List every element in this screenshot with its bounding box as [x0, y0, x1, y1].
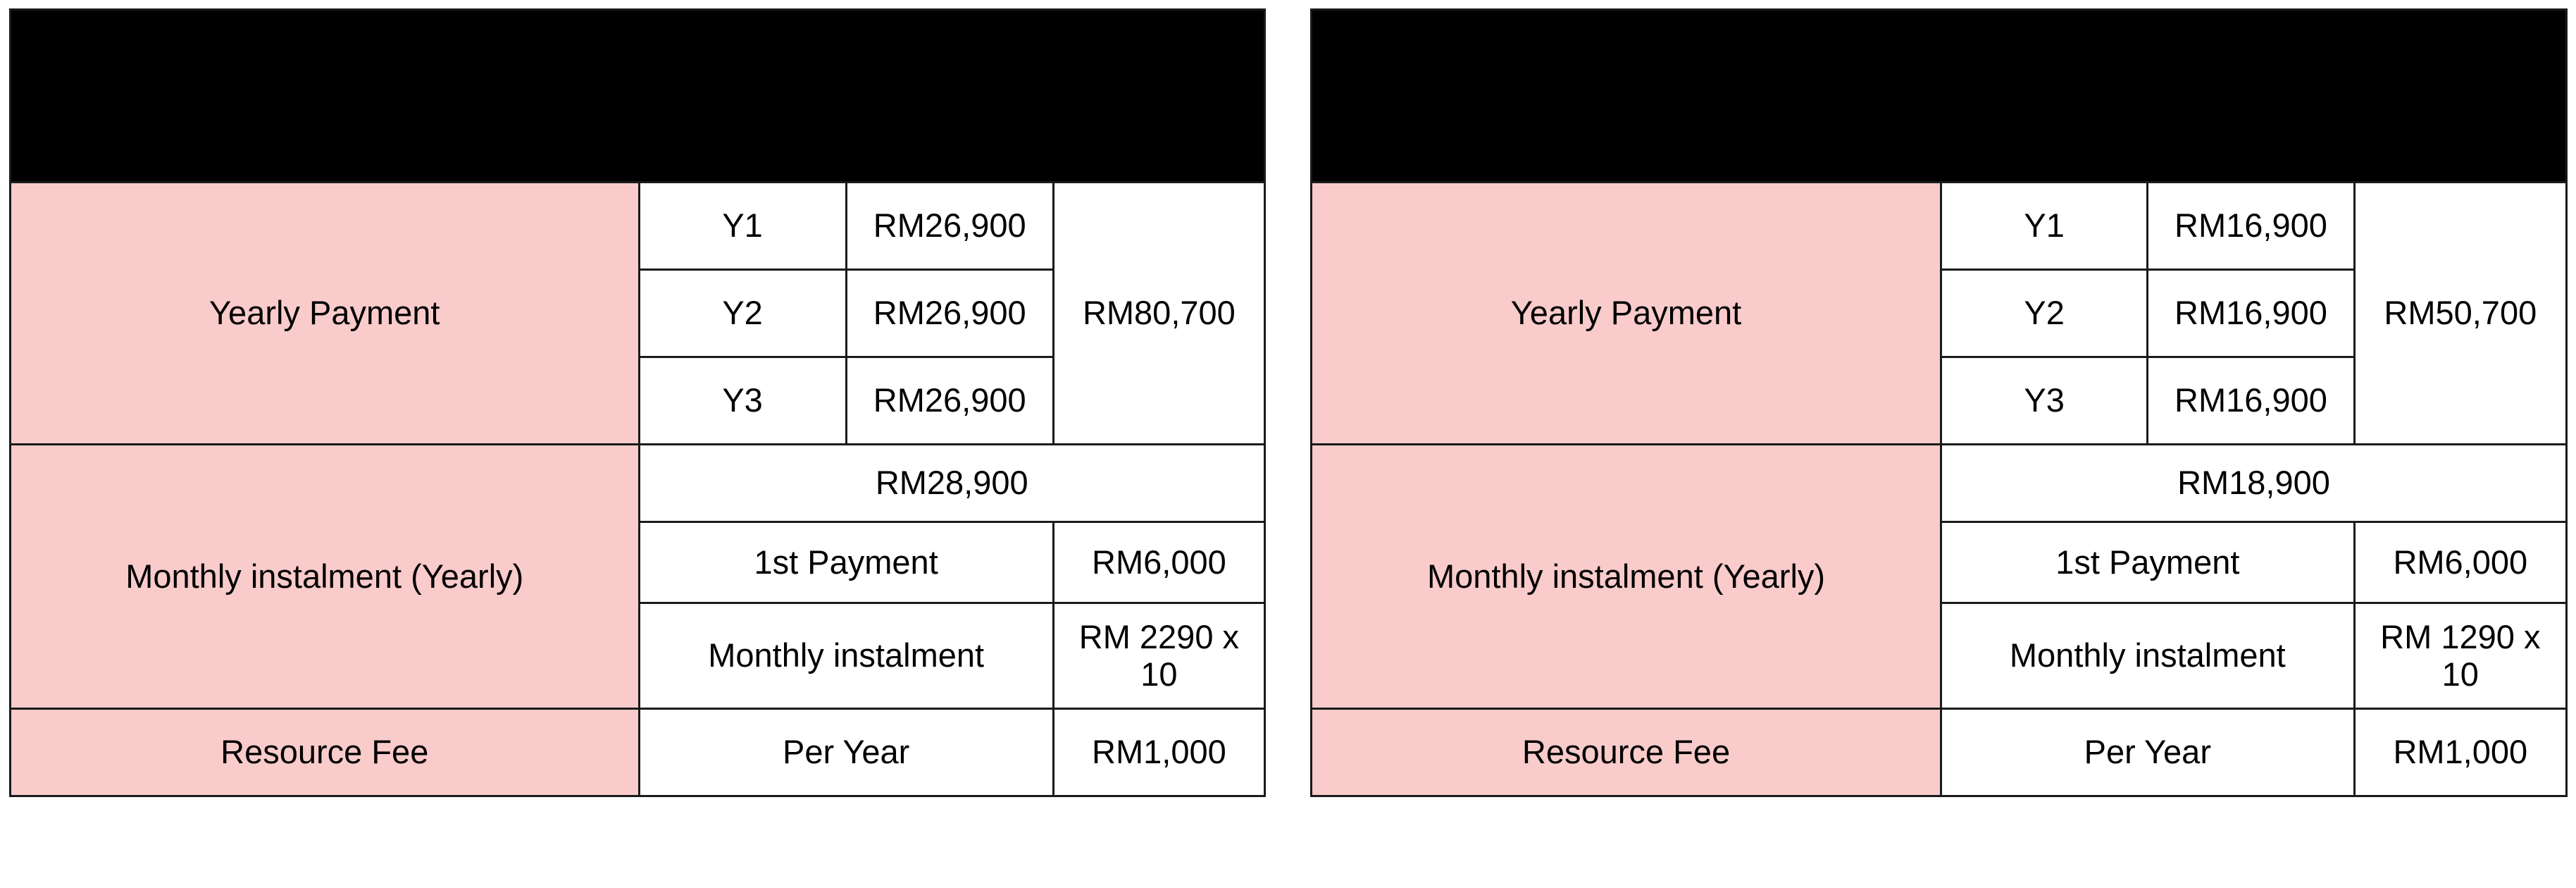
resource-fee-amount: RM1,000	[2354, 709, 2566, 796]
yearly-year-amount: RM26,900	[846, 357, 1053, 445]
yearly-year-amount: RM16,900	[2148, 270, 2354, 357]
yearly-year-label: Y1	[639, 183, 846, 270]
monthly-instalment-label: Monthly instalment (Yearly)	[1312, 445, 1941, 709]
first-payment-label: 1st Payment	[1941, 522, 2355, 603]
table-row: Resource Fee Per Year RM1,000	[1312, 709, 2567, 796]
yearly-payment-label: Yearly Payment	[11, 183, 640, 445]
yearly-year-amount: RM16,900	[2148, 357, 2354, 445]
yearly-total-amount: RM80,700	[1053, 183, 1264, 445]
first-payment-label: 1st Payment	[639, 522, 1053, 603]
yearly-year-label: Y2	[1941, 270, 2148, 357]
monthly-instalment-amount: RM 1290 x 10	[2354, 603, 2566, 709]
monthly-yearly-total: RM28,900	[639, 445, 1265, 522]
monthly-yearly-total: RM18,900	[1941, 445, 2567, 522]
resource-fee-label: Resource Fee	[11, 709, 640, 796]
first-payment-amount: RM6,000	[1053, 522, 1264, 603]
monthly-instalment-amount: RM 2290 x 10	[1053, 603, 1264, 709]
monthly-instalment-label: Monthly instalment (Yearly)	[11, 445, 640, 709]
resource-fee-period: Per Year	[1941, 709, 2355, 796]
resource-fee-label: Resource Fee	[1312, 709, 1941, 796]
table-title-line-2: STANDARD PRICE	[18, 96, 1257, 133]
yearly-year-amount: RM26,900	[846, 270, 1053, 357]
yearly-year-label: Y3	[639, 357, 846, 445]
table-title-line-1: BACHELORS SCHOLARSHIP (2026)	[18, 58, 1257, 96]
table-title-line-1: BACHELORS SCHOLARSHIP (2026)	[1319, 78, 2558, 115]
scholarship-price-table: BACHELORS SCHOLARSHIP (2026) Yearly Paym…	[1310, 8, 2568, 797]
monthly-instalment-row-label: Monthly instalment	[639, 603, 1053, 709]
fee-comparison-page: BACHELORS SCHOLARSHIP (2026) STANDARD PR…	[0, 0, 2576, 888]
table-title: BACHELORS SCHOLARSHIP (2026)	[1312, 10, 2567, 183]
yearly-year-amount: RM16,900	[2148, 183, 2354, 270]
yearly-year-label: Y3	[1941, 357, 2148, 445]
table-row: Resource Fee Per Year RM1,000	[11, 709, 1265, 796]
yearly-year-label: Y2	[639, 270, 846, 357]
first-payment-amount: RM6,000	[2354, 522, 2566, 603]
resource-fee-period: Per Year	[639, 709, 1053, 796]
table-title: BACHELORS SCHOLARSHIP (2026) STANDARD PR…	[11, 10, 1265, 183]
table-row: Yearly Payment Y1 RM26,900 RM80,700	[11, 183, 1265, 270]
table-row: Monthly instalment (Yearly) RM18,900	[1312, 445, 2567, 522]
table-header-row: BACHELORS SCHOLARSHIP (2026)	[1312, 10, 2567, 183]
yearly-total-amount: RM50,700	[2354, 183, 2566, 445]
resource-fee-amount: RM1,000	[1053, 709, 1264, 796]
monthly-instalment-row-label: Monthly instalment	[1941, 603, 2355, 709]
yearly-payment-label: Yearly Payment	[1312, 183, 1941, 445]
table-row: Monthly instalment (Yearly) RM28,900	[11, 445, 1265, 522]
scholarship-price-table-container: BACHELORS SCHOLARSHIP (2026) Yearly Paym…	[1310, 8, 2568, 797]
yearly-year-label: Y1	[1941, 183, 2148, 270]
table-header-row: BACHELORS SCHOLARSHIP (2026) STANDARD PR…	[11, 10, 1265, 183]
standard-price-table: BACHELORS SCHOLARSHIP (2026) STANDARD PR…	[9, 8, 1266, 797]
standard-price-table-container: BACHELORS SCHOLARSHIP (2026) STANDARD PR…	[9, 8, 1266, 797]
table-row: Yearly Payment Y1 RM16,900 RM50,700	[1312, 183, 2567, 270]
yearly-year-amount: RM26,900	[846, 183, 1053, 270]
